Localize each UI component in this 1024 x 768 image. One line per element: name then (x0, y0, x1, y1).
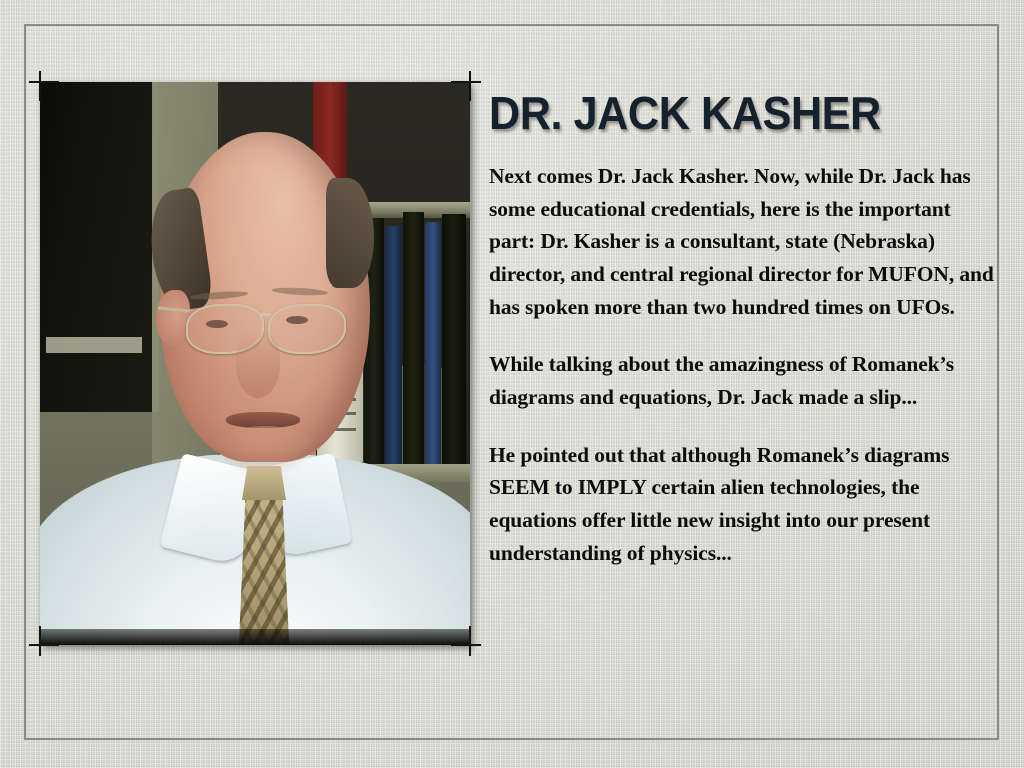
photo-doorframe-highlight (46, 337, 142, 353)
eyeglasses-lens-right-icon (268, 304, 346, 354)
photo-subject-nose (236, 332, 280, 398)
page-title: DR. JACK KASHER (489, 90, 967, 136)
crop-mark-bottom-left (29, 622, 63, 656)
crop-mark-top-right (447, 71, 481, 105)
photo-subject-ear (156, 290, 190, 346)
portrait-photo (40, 82, 470, 645)
eyeglasses-bridge (259, 313, 271, 316)
body-paragraph-2: While talking about the amazingness of R… (489, 348, 997, 413)
photo-doorframe (40, 82, 159, 412)
body-paragraph-1: Next comes Dr. Jack Kasher. Now, while D… (489, 160, 997, 323)
portrait-photo-block (40, 82, 470, 645)
slide-content-column: DR. JACK KASHER Next comes Dr. Jack Kash… (489, 90, 997, 569)
photo-bottom-shadow (40, 629, 470, 645)
photo-subject-chin (210, 426, 320, 476)
presentation-slide: DR. JACK KASHER Next comes Dr. Jack Kash… (0, 0, 1024, 768)
crop-mark-top-left (29, 71, 63, 105)
crop-mark-bottom-right (447, 622, 481, 656)
body-paragraph-3: He pointed out that although Romanek’s d… (489, 439, 997, 570)
